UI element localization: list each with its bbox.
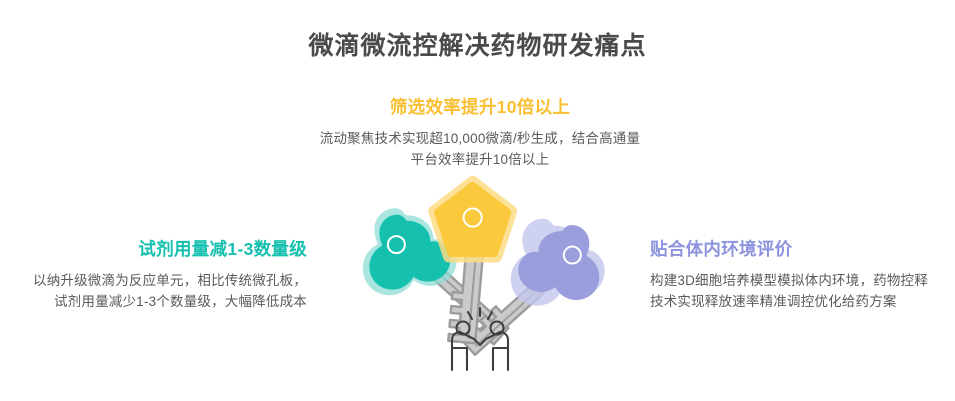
text-block-screening-efficiency: 筛选效率提升10倍以上 流动聚焦技术实现超10,000微滴/秒生成，结合高通量平… [315, 96, 645, 171]
block-body-left: 以纳升级微滴为反应单元，相比传统微孔板，试剂用量减少1-3个数量级，大幅降低成本 [25, 270, 307, 314]
purple-key-head [511, 219, 605, 306]
slide-canvas: 微滴微流控解决药物研发痛点 筛选效率提升10倍以上 流动聚焦技术实现超10,00… [0, 0, 955, 401]
person-left-torso [452, 348, 467, 352]
person-right-torso [493, 348, 508, 352]
three-keys-illustration [330, 168, 630, 373]
yellow-key-head [434, 182, 512, 257]
person-left-legs [452, 348, 467, 370]
block-body-right: 构建3D细胞培养模型模拟体内环境，药物控释技术实现释放速率精准调控优化给药方案 [650, 270, 940, 314]
block-heading-right: 贴合体内环境评价 [650, 238, 940, 262]
text-block-in-vivo-evaluation: 贴合体内环境评价 构建3D细胞培养模型模拟体内环境，药物控释技术实现释放速率精准… [650, 238, 940, 313]
person-right-legs [493, 348, 508, 370]
block-body-top: 流动聚焦技术实现超10,000微滴/秒生成，结合高通量平台效率提升10倍以上 [315, 128, 645, 172]
page-title: 微滴微流控解决药物研发痛点 [0, 30, 955, 63]
block-heading-top: 筛选效率提升10倍以上 [315, 96, 645, 120]
block-heading-left: 试剂用量减1-3数量级 [25, 238, 307, 262]
text-block-reagent-reduction: 试剂用量减1-3数量级 以纳升级微滴为反应单元，相比传统微孔板，试剂用量减少1-… [25, 238, 307, 313]
